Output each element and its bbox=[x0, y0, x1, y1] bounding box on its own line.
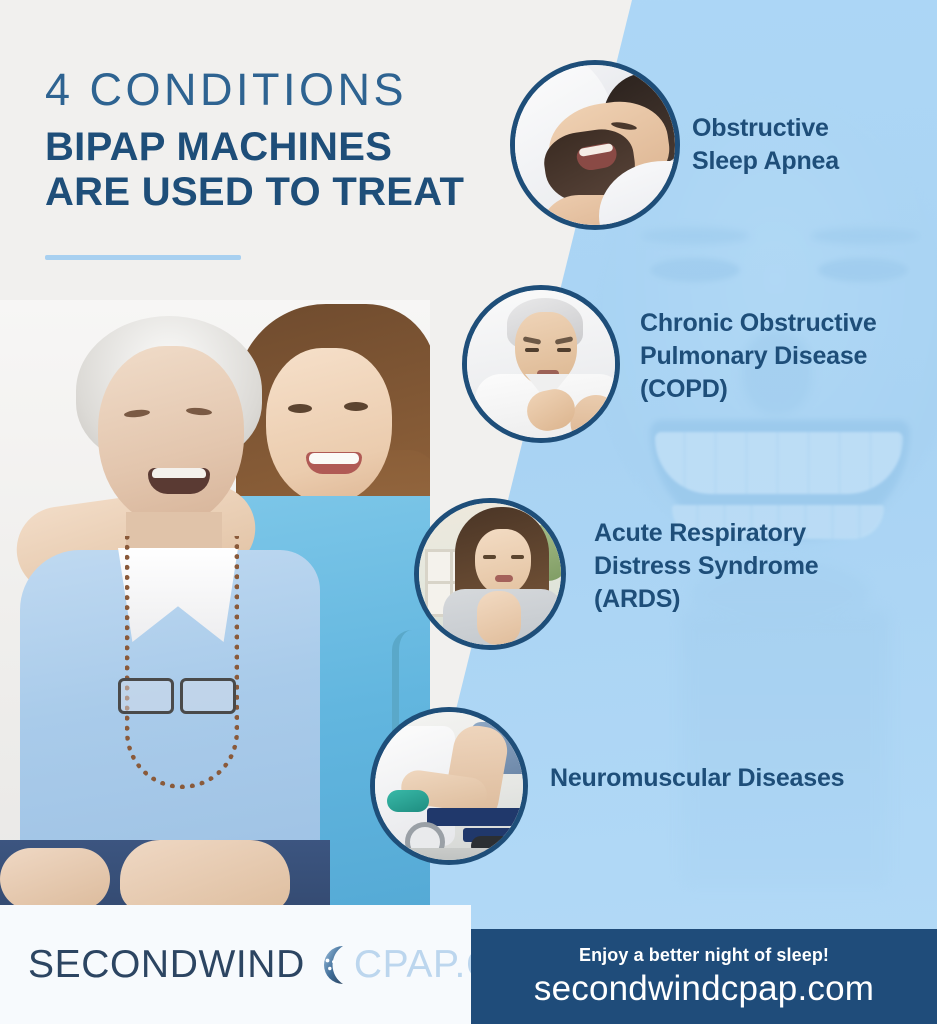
condition-4-line-1: Neuromuscular Diseases bbox=[550, 762, 930, 795]
elderly-man-chest-pain-photo bbox=[467, 290, 615, 438]
condition-2-line-2: Pulmonary Disease bbox=[640, 340, 930, 373]
condition-2-line-1: Chronic Obstructive bbox=[640, 307, 930, 340]
ards-face bbox=[475, 529, 531, 595]
ards-mouth bbox=[495, 575, 513, 582]
hero-nurse-face bbox=[266, 348, 392, 504]
hero-elderly-hand-left bbox=[0, 848, 110, 910]
headline-accent-rule bbox=[45, 255, 241, 260]
condition-1-line-1: Obstructive bbox=[692, 112, 932, 145]
infographic-canvas: 4 CONDITIONS BIPAP MACHINES ARE USED TO … bbox=[0, 0, 937, 1024]
child-in-wheelchair-photo bbox=[375, 712, 523, 860]
ards-eye-right bbox=[511, 555, 524, 559]
condition-photo-obstructive-sleep-apnea[interactable] bbox=[510, 60, 680, 230]
hero-elderly-face bbox=[98, 346, 244, 526]
hero-elderly-hand-right bbox=[120, 840, 290, 912]
copd-eye-right bbox=[557, 348, 571, 352]
condition-label-ards: Acute Respiratory Distress Syndrome (ARD… bbox=[594, 517, 894, 616]
hero-nurse-eye-left bbox=[288, 404, 312, 413]
ards-eye-left bbox=[483, 555, 496, 559]
headline-line-2: ARE USED TO TREAT bbox=[45, 170, 525, 215]
copd-eye-left bbox=[525, 348, 539, 352]
logo-text-dark: SECONDWIND bbox=[28, 943, 305, 987]
condition-label-copd: Chronic Obstructive Pulmonary Disease (C… bbox=[640, 307, 930, 406]
headline-eyebrow: 4 CONDITIONS bbox=[45, 66, 525, 113]
hero-elderly-teeth bbox=[152, 468, 206, 478]
condition-label-obstructive-sleep-apnea: Obstructive Sleep Apnea bbox=[692, 112, 932, 178]
man-snoring-in-bed-photo bbox=[515, 65, 675, 225]
footer-tagline: Enjoy a better night of sleep! bbox=[579, 945, 829, 966]
wheelchair-strap-upper bbox=[427, 808, 528, 826]
condition-3-line-2: Distress Syndrome bbox=[594, 550, 894, 583]
eyeglasses-icon bbox=[118, 672, 236, 714]
hero-nurse-eye-right bbox=[344, 402, 368, 411]
condition-3-line-1: Acute Respiratory bbox=[594, 517, 894, 550]
footer-url[interactable]: secondwindcpap.com bbox=[534, 969, 874, 1009]
ards-hands-on-throat bbox=[477, 591, 521, 645]
footer-cta-panel: Enjoy a better night of sleep! secondwin… bbox=[471, 929, 937, 1024]
headline-main: BIPAP MACHINES ARE USED TO TREAT bbox=[45, 125, 525, 215]
condition-photo-ards[interactable] bbox=[414, 498, 566, 650]
hero-nurse-teeth bbox=[309, 453, 359, 464]
wheelchair-teal-shoe bbox=[387, 790, 429, 812]
headline-line-1: BIPAP MACHINES bbox=[45, 125, 525, 170]
condition-1-line-2: Sleep Apnea bbox=[692, 145, 932, 178]
condition-label-neuromuscular-diseases: Neuromuscular Diseases bbox=[550, 762, 930, 795]
footer-logo-panel: SECONDWIND CPAP.COM bbox=[0, 905, 471, 1024]
woman-breathing-difficulty-photo bbox=[419, 503, 561, 645]
page-title: 4 CONDITIONS BIPAP MACHINES ARE USED TO … bbox=[45, 66, 525, 215]
condition-photo-copd[interactable] bbox=[462, 285, 620, 443]
condition-2-line-3: (COPD) bbox=[640, 373, 930, 406]
crescent-moon-icon bbox=[307, 942, 353, 988]
elderly-woman-and-nurse-photo bbox=[0, 300, 430, 912]
condition-photo-neuromuscular-diseases[interactable] bbox=[370, 707, 528, 865]
hero-elderly-necklace bbox=[125, 536, 239, 789]
condition-3-line-3: (ARDS) bbox=[594, 583, 894, 616]
